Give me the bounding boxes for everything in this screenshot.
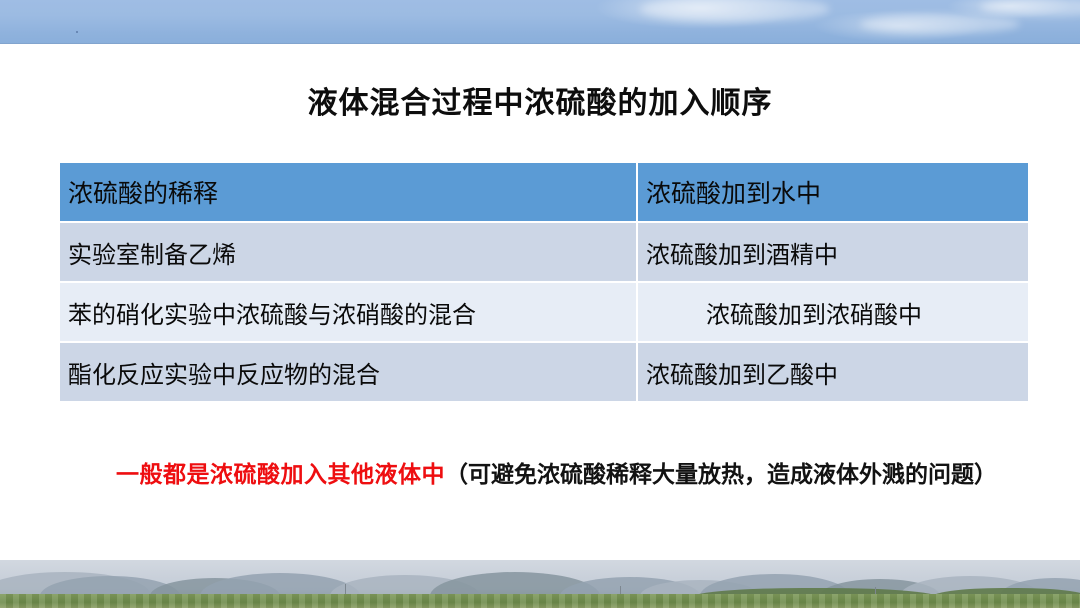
cell-operation: 苯的硝化实验中浓硫酸与浓硝酸的混合 (60, 283, 636, 343)
table-header-row: 浓硫酸的稀释 浓硫酸加到水中 (60, 163, 1028, 223)
green-field (0, 594, 1080, 608)
top-sky-banner (0, 0, 1080, 44)
cloud-wisp-icon (980, 0, 1080, 16)
note-highlight-text: 一般都是浓硫酸加入其他液体中 (116, 461, 445, 487)
cloud-wisp-icon (640, 0, 830, 22)
cell-order: 浓硫酸加到浓硝酸中 (636, 283, 1028, 343)
table-row: 实验室制备乙烯 浓硫酸加到酒精中 (60, 223, 1028, 283)
table-header-operation: 浓硫酸的稀释 (60, 163, 636, 223)
acid-addition-order-table: 浓硫酸的稀释 浓硫酸加到水中 实验室制备乙烯 浓硫酸加到酒精中 苯的硝化实验中浓… (60, 163, 1028, 401)
cloud-wisp-icon (860, 14, 1020, 34)
page-title: 液体混合过程中浓硫酸的加入顺序 (0, 84, 1080, 124)
table-row: 酯化反应实验中反应物的混合 浓硫酸加到乙酸中 (60, 343, 1028, 401)
cell-order: 浓硫酸加到酒精中 (636, 223, 1028, 283)
cell-order: 浓硫酸加到乙酸中 (636, 343, 1028, 401)
note-detail-text: （可避免浓硫酸稀释大量放热，造成液体外溅的问题） (445, 461, 997, 487)
table-header-order: 浓硫酸加到水中 (636, 163, 1028, 223)
summary-note: 一般都是浓硫酸加入其他液体中（可避免浓硫酸稀释大量放热，造成液体外溅的问题） (64, 452, 1024, 496)
bottom-landscape-banner (0, 560, 1080, 608)
table-row: 苯的硝化实验中浓硫酸与浓硝酸的混合 浓硫酸加到浓硝酸中 (60, 283, 1028, 343)
sky-speck (76, 31, 78, 33)
cell-operation: 酯化反应实验中反应物的混合 (60, 343, 636, 401)
banner-bottom-edge (0, 43, 1080, 44)
cell-operation: 实验室制备乙烯 (60, 223, 636, 283)
